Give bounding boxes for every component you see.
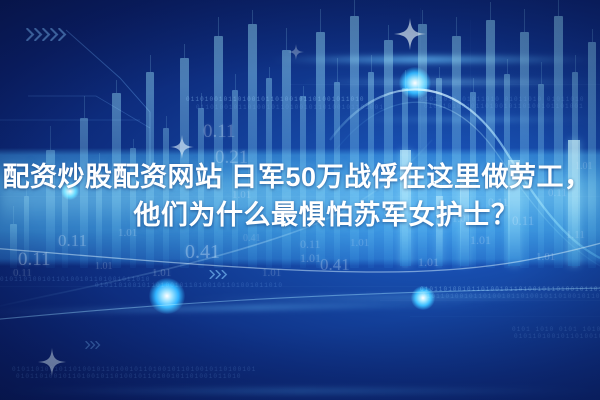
banner-image: 0.110.111.011.011.010.110.211.010.411.01… (0, 0, 600, 400)
headline-line-1: 配资炒股配资网站 日军50万战俘在这里做劳工， (0, 158, 600, 196)
headline-block: 配资炒股配资网站 日军50万战俘在这里做劳工， 他们为什么最惧怕苏军女护士？ (0, 158, 600, 234)
headline-line-2: 他们为什么最惧怕苏军女护士？ (0, 196, 600, 234)
